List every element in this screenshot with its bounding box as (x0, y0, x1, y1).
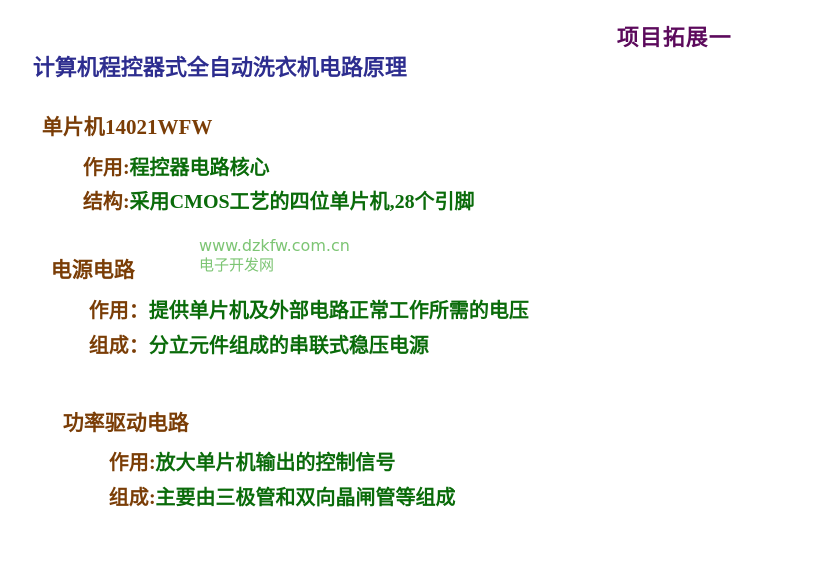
detail-value: 程控器电路核心 (130, 157, 270, 179)
detail-row: 结构:采用CMOS工艺的四位单片机,28个引脚 (83, 191, 475, 213)
detail-label: 组成： (89, 335, 149, 357)
detail-row: 组成：分立元件组成的串联式稳压电源 (89, 335, 429, 357)
detail-label: 结构: (83, 191, 130, 213)
content-body: 单片机14021WFW 作用:程控器电路核心 结构:采用CMOS工艺的四位单片机… (0, 0, 820, 573)
section-topic-power-driver: 功率驱动电路 (63, 412, 189, 435)
detail-value: 分立元件组成的串联式稳压电源 (149, 335, 429, 357)
detail-value: 放大单片机输出的控制信号 (156, 452, 396, 474)
detail-label: 作用: (83, 157, 130, 179)
section-topic-power-supply: 电源电路 (51, 259, 135, 282)
detail-row: 作用：提供单片机及外部电路正常工作所需的电压 (89, 300, 529, 322)
detail-row: 组成:主要由三极管和双向晶闸管等组成 (109, 487, 456, 509)
section-topic-mcu: 单片机14021WFW (42, 116, 212, 139)
detail-label: 组成: (109, 487, 156, 509)
detail-row: 作用:放大单片机输出的控制信号 (109, 452, 396, 474)
detail-value: 主要由三极管和双向晶闸管等组成 (156, 487, 456, 509)
detail-label: 作用： (89, 300, 149, 322)
detail-value: 提供单片机及外部电路正常工作所需的电压 (149, 300, 529, 322)
detail-label: 作用: (109, 452, 156, 474)
detail-value: 采用CMOS工艺的四位单片机,28个引脚 (130, 191, 475, 213)
slide-canvas: 项目拓展一 计算机程控器式全自动洗衣机电路原理 www.dzkfw.com.cn… (0, 0, 820, 573)
detail-row: 作用:程控器电路核心 (83, 157, 270, 179)
